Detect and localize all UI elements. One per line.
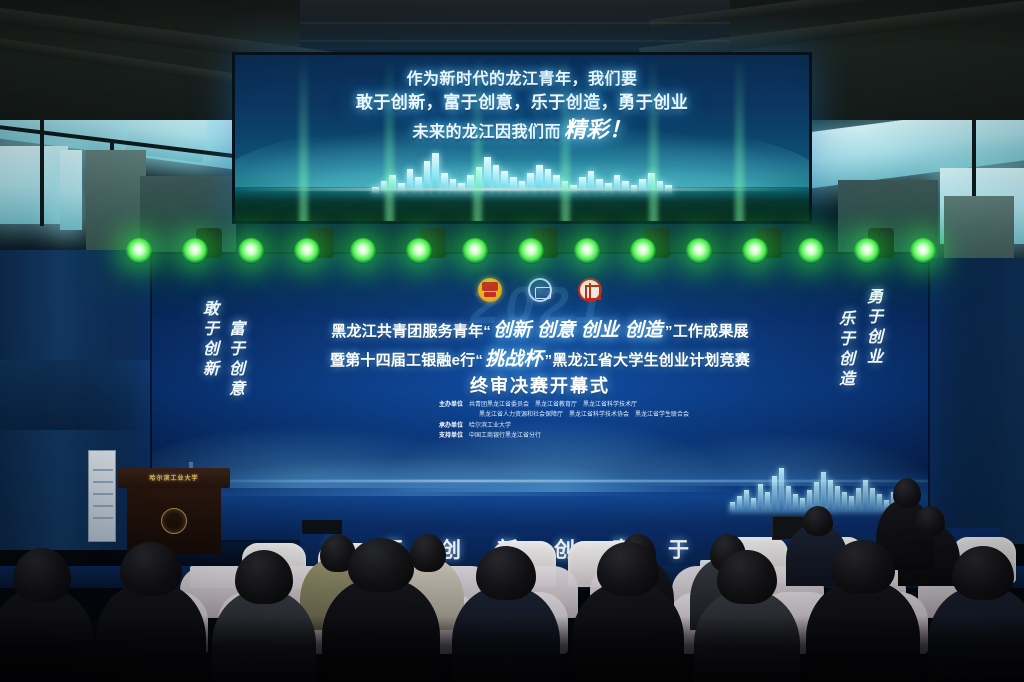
audience-head bbox=[717, 550, 776, 604]
building-silhouette bbox=[863, 480, 868, 512]
curtain-valance-left bbox=[0, 360, 150, 430]
green-par-light bbox=[126, 238, 152, 264]
audience-head bbox=[120, 542, 182, 596]
standing-banner bbox=[88, 450, 116, 542]
green-par-light bbox=[350, 238, 376, 264]
green-par-light bbox=[294, 238, 320, 264]
green-par-light-row bbox=[120, 222, 960, 268]
building-silhouette bbox=[849, 496, 854, 512]
title-1-brush: 创新 创意 创业 创造 bbox=[491, 320, 665, 341]
communist-youth-league-emblem-icon bbox=[478, 278, 502, 302]
screen-slogan-line-3-prefix: 未来的龙江因我们而 bbox=[412, 124, 561, 141]
organizer-row: 承办单位哈尔滨工业大学 bbox=[439, 421, 689, 431]
building-silhouette bbox=[786, 486, 791, 512]
event-photo-scene: 作为新时代的龙江青年，我们要 敢于创新，富于创意，乐于创造，勇于创业 未来的龙江… bbox=[0, 0, 1024, 682]
calligraphy-right-2: 乐于创造 bbox=[832, 310, 856, 390]
podium-label: 哈尔滨工业大学 bbox=[118, 473, 230, 482]
green-par-light bbox=[686, 238, 712, 264]
organizer-row: 黑龙江省人力资源和社会保障厅 黑龙江省科学技术协会 黑龙江省学生联合会 bbox=[439, 410, 689, 420]
ceiling-panel-line bbox=[300, 40, 730, 42]
screen-slogan-line-1: 作为新时代的龙江青年，我们要 bbox=[235, 69, 809, 91]
screen-slogan-text: 作为新时代的龙江青年，我们要 敢于创新，富于创意，乐于创造，勇于创业 未来的龙江… bbox=[235, 69, 809, 145]
green-par-light bbox=[182, 238, 208, 264]
audience-head bbox=[348, 538, 414, 592]
organizer-label: 承办单位 bbox=[439, 421, 463, 431]
green-par-light bbox=[910, 238, 936, 264]
skyline-silhouette-right bbox=[730, 460, 910, 512]
audience-body bbox=[572, 582, 684, 680]
organizer-label: 主办单位 bbox=[439, 400, 463, 410]
curtain-right bbox=[924, 258, 1024, 544]
calligraphy-left-2: 富于创意 bbox=[222, 320, 246, 400]
podium-top: 哈尔滨工业大学 bbox=[118, 468, 230, 488]
organizer-value: 黑龙江省人力资源和社会保障厅 黑龙江省科学技术协会 黑龙江省学生联合会 bbox=[479, 410, 689, 420]
building-silhouette bbox=[730, 502, 735, 512]
audience-body bbox=[452, 586, 560, 682]
green-par-light bbox=[462, 238, 488, 264]
green-par-light bbox=[798, 238, 824, 264]
organizer-label: 支持单位 bbox=[439, 431, 463, 441]
speaker-podium: 哈尔滨工业大学 bbox=[118, 468, 230, 554]
building-silhouette bbox=[744, 490, 749, 512]
building-silhouette bbox=[835, 486, 840, 512]
audience-head bbox=[915, 506, 945, 536]
icbc-logo-emblem-icon bbox=[578, 278, 602, 302]
building-silhouette bbox=[842, 492, 847, 512]
audience-body bbox=[322, 578, 440, 678]
screen-slogan-highlight: 精彩！ bbox=[561, 117, 632, 142]
screen-slogan-line-3: 未来的龙江因我们而精彩！ bbox=[235, 115, 809, 145]
green-par-light bbox=[742, 238, 768, 264]
green-par-light bbox=[518, 238, 544, 264]
audience-head bbox=[13, 548, 71, 602]
building-silhouette bbox=[856, 488, 861, 512]
green-par-light bbox=[406, 238, 432, 264]
backdrop-title-line-2: 暨第十四届工银融e行“挑战杯”黑龙江省大学生创业计划竞赛 bbox=[152, 345, 928, 374]
audience-head bbox=[893, 478, 921, 508]
main-stage-backdrop: 2021 黑龙江共青团服务青年“创新 创意 创业 创造”工作成果展 暨第十四届工… bbox=[150, 252, 930, 542]
window-glow-left-slit bbox=[60, 150, 82, 230]
title-2-prefix: 暨第十四届工银融e行“ bbox=[330, 352, 483, 369]
building-silhouette bbox=[877, 494, 882, 512]
audience-body bbox=[96, 582, 206, 680]
screen-slogan-line-2: 敢于创新，富于创意，乐于创造，勇于创业 bbox=[235, 91, 809, 114]
confidence-monitor bbox=[302, 520, 342, 534]
audience-head bbox=[952, 546, 1014, 600]
calligraphy-right-1: 勇于创业 bbox=[860, 288, 884, 368]
audience-body bbox=[806, 580, 920, 680]
green-par-light bbox=[854, 238, 880, 264]
audience-head bbox=[410, 534, 446, 572]
organizer-value: 中国工商银行黑龙江省分行 bbox=[469, 431, 541, 441]
screen-floor-gradient bbox=[235, 187, 809, 221]
building-silhouette bbox=[800, 498, 805, 512]
building-silhouette bbox=[765, 492, 770, 512]
audience-head bbox=[597, 542, 660, 596]
backdrop-title-line-1: 黑龙江共青团服务青年“创新 创意 创业 创造”工作成果展 bbox=[152, 316, 928, 345]
title-2-brush: 挑战杯 bbox=[483, 349, 545, 370]
building-silhouette bbox=[758, 484, 763, 512]
title-1-suffix: ”工作成果展 bbox=[665, 323, 749, 340]
building-silhouette bbox=[737, 496, 742, 512]
title-1-prefix: 黑龙江共青团服务青年“ bbox=[331, 323, 491, 340]
building-silhouette bbox=[779, 468, 784, 512]
university-seal-icon bbox=[161, 508, 187, 534]
building-silhouette bbox=[793, 494, 798, 512]
overhead-led-screen: 作为新时代的龙江青年，我们要 敢于创新，富于创意，乐于创造，勇于创业 未来的龙江… bbox=[232, 52, 812, 224]
window-glow-left-lower bbox=[0, 146, 68, 224]
audience-head bbox=[235, 550, 293, 604]
green-par-light bbox=[630, 238, 656, 264]
building-silhouette bbox=[828, 480, 833, 512]
organizer-value: 哈尔滨工业大学 bbox=[469, 421, 511, 431]
title-2-suffix: ”黑龙江省大学生创业计划竞赛 bbox=[545, 352, 750, 369]
heilongjiang-blue-emblem-icon bbox=[528, 278, 552, 302]
organizer-value: 共青团黑龙江省委员会 黑龙江省教育厅 黑龙江省科学技术厅 bbox=[469, 400, 637, 410]
ceiling-panel-line bbox=[300, 22, 730, 24]
building-silhouette bbox=[870, 488, 875, 512]
audience-head bbox=[803, 506, 833, 536]
emblem-row bbox=[478, 278, 602, 302]
organizer-row: 支持单位中国工商银行黑龙江省分行 bbox=[439, 431, 689, 441]
green-par-light bbox=[238, 238, 264, 264]
audience-head bbox=[476, 546, 536, 600]
building-silhouette bbox=[751, 498, 756, 512]
audience-head bbox=[831, 540, 895, 594]
organizer-row: 主办单位共青团黑龙江省委员会 黑龙江省教育厅 黑龙江省科学技术厅 bbox=[439, 400, 689, 410]
backdrop-subtitle: 终审决赛开幕式 bbox=[152, 372, 928, 398]
building-silhouette bbox=[772, 476, 777, 512]
organizer-list: 主办单位共青团黑龙江省委员会 黑龙江省教育厅 黑龙江省科学技术厅黑龙江省人力资源… bbox=[439, 400, 689, 441]
backdrop-title: 黑龙江共青团服务青年“创新 创意 创业 创造”工作成果展 暨第十四届工银融e行“… bbox=[152, 316, 928, 375]
calligraphy-left-1: 敢于创新 bbox=[196, 300, 220, 380]
green-par-light bbox=[574, 238, 600, 264]
